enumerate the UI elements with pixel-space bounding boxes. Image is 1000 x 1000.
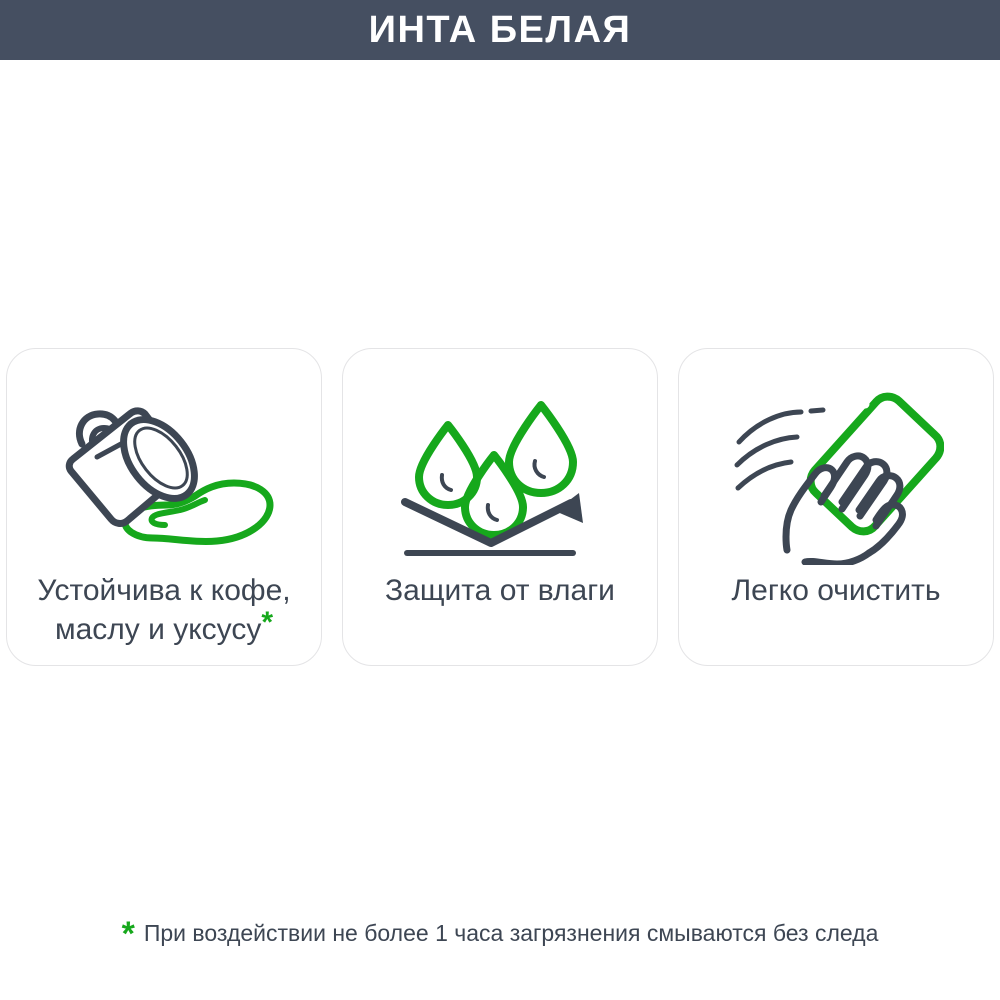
feature-cards-row: Устойчива к кофе, маслу и уксусу* bbox=[6, 348, 994, 666]
spilled-mug-icon bbox=[7, 387, 321, 567]
product-feature-infographic: ИНТА БЕЛАЯ bbox=[0, 0, 1000, 1000]
asterisk-icon: * bbox=[122, 919, 135, 949]
feature-card-moisture-protection: Защита от влаги bbox=[342, 348, 658, 666]
page-title: ИНТА БЕЛАЯ bbox=[369, 10, 632, 50]
feature-card-stain-resistance: Устойчива к кофе, маслу и уксусу* bbox=[6, 348, 322, 666]
hand-wiping-cloth-icon bbox=[679, 387, 993, 567]
water-droplets-repel-icon bbox=[343, 387, 657, 567]
feature-card-label: Защита от влаги bbox=[353, 571, 647, 610]
footnote: * При воздействии не более 1 часа загряз… bbox=[0, 918, 1000, 948]
feature-card-label: Устойчива к кофе, маслу и уксусу* bbox=[17, 571, 311, 649]
footnote-marker-icon: * bbox=[261, 606, 273, 639]
header-bar: ИНТА БЕЛАЯ bbox=[0, 0, 1000, 60]
feature-label-line-1: Устойчива к кофе, bbox=[37, 574, 290, 607]
footnote-text: При воздействии не более 1 часа загрязне… bbox=[144, 918, 879, 948]
feature-label-line-2: маслу и уксусу bbox=[55, 613, 261, 646]
feature-card-easy-clean: Легко очистить bbox=[678, 348, 994, 666]
feature-card-label: Легко очистить bbox=[689, 571, 983, 610]
